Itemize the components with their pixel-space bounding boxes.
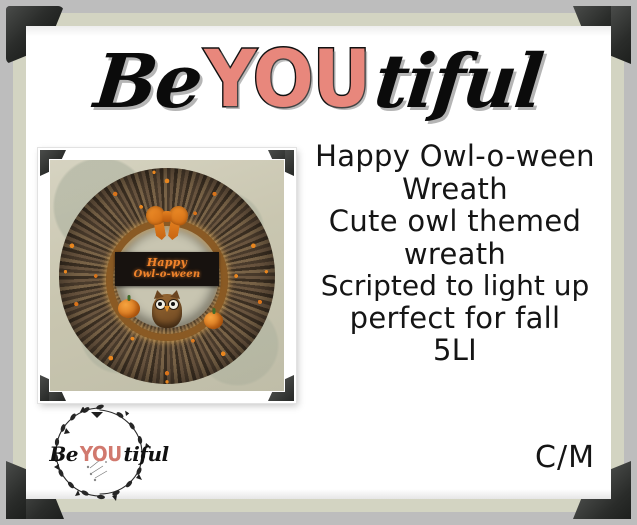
description-line-1: Happy Owl-o-ween	[305, 142, 605, 172]
product-photo-wreath: Happy Owl-o-ween	[50, 160, 284, 391]
owl-ear-right	[170, 289, 181, 299]
land-impact-value: 5LI	[305, 336, 605, 366]
brand-text-you: YOU	[204, 35, 370, 125]
pumpkin-left	[118, 299, 140, 318]
watermark-brand-logo: BeYOUtiful	[36, 402, 182, 508]
watermark-text: BeYOUtiful	[36, 442, 182, 466]
product-photo-frame: Happy Owl-o-ween	[38, 148, 296, 403]
brand-text-tiful: tiful	[371, 39, 546, 125]
bow-knot	[163, 211, 172, 222]
halloween-sign: Happy Owl-o-ween	[115, 252, 219, 286]
sign-text-line1: Happy	[147, 257, 187, 269]
description-line-3: Cute owl themed	[305, 207, 605, 237]
brand-text-be: Be	[91, 39, 206, 125]
sign-text-line2: Owl-o-ween	[134, 269, 201, 281]
orange-bow	[146, 206, 188, 236]
product-description: Happy Owl-o-ween Wreath Cute owl themed …	[305, 142, 605, 369]
description-line-2: Wreath	[305, 175, 605, 205]
permissions-badge: C/M	[535, 440, 595, 475]
watermark-text-be: Be	[49, 442, 78, 466]
watermark-text-you: YOU	[80, 442, 122, 466]
description-line-4: wreath	[305, 240, 605, 270]
owl-ear-left	[152, 289, 163, 299]
description-line-5: Scripted to light up	[305, 272, 605, 301]
owl-figure	[152, 294, 182, 328]
description-line-6: perfect for fall	[305, 304, 605, 334]
product-advertisement-card: BeYOUtiful Happy Owl-o-ween	[0, 0, 637, 525]
owl-beak	[164, 306, 170, 312]
brand-logo: BeYOUtiful	[26, 26, 611, 138]
watermark-text-tiful: tiful	[124, 442, 169, 466]
